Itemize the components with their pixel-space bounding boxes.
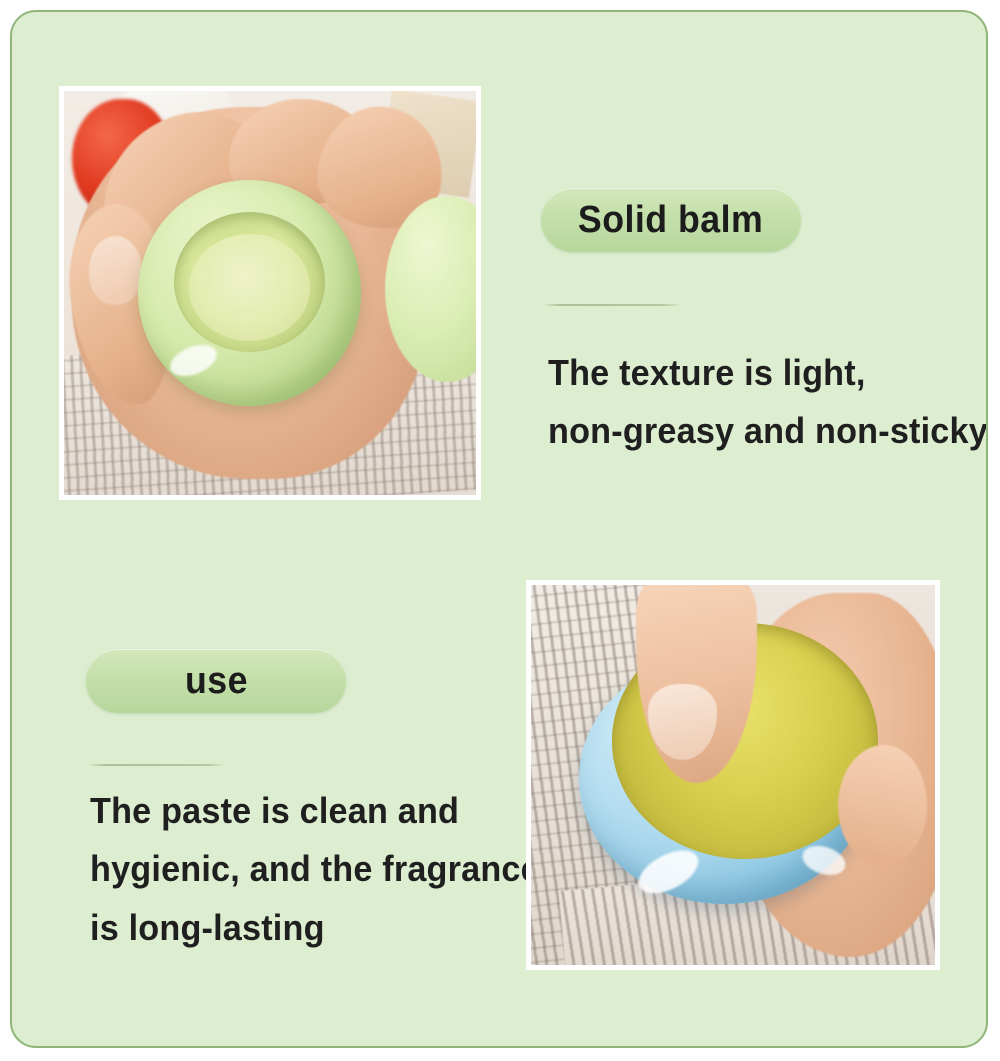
badge-solid-balm-label: Solid balm: [578, 199, 763, 242]
description-use: The paste is clean and hygienic, and the…: [90, 782, 537, 957]
badge-solid-balm: Solid balm: [541, 188, 801, 252]
jar-glossy-highlight: [166, 339, 222, 382]
supporting-finger-shape: [838, 745, 927, 867]
badge-use: use: [86, 649, 346, 713]
divider-use: [90, 764, 223, 766]
divider-solid-balm: [545, 304, 678, 306]
description-line: non-greasy and non-sticky: [548, 402, 988, 460]
photo-canvas-blue-jar: [531, 585, 935, 965]
description-solid-balm: The texture is light, non-greasy and non…: [548, 344, 988, 461]
photo-canvas-green-jar: [64, 91, 476, 495]
product-infographic-card: Solid balm The texture is light, non-gre…: [10, 10, 988, 1048]
product-photo-use: [526, 580, 940, 970]
description-line: is long-lasting: [90, 899, 537, 957]
green-ceramic-jar: [138, 180, 360, 406]
product-photo-solid-balm: [59, 86, 481, 500]
description-line: The paste is clean and: [90, 782, 537, 840]
description-line: hygienic, and the fragrance: [90, 840, 537, 898]
description-line: The texture is light,: [548, 344, 988, 402]
thumb-nail-shape: [89, 236, 143, 305]
balm-content: [189, 234, 310, 341]
jar-mouth-opening: [174, 212, 325, 352]
badge-use-label: use: [185, 660, 248, 703]
